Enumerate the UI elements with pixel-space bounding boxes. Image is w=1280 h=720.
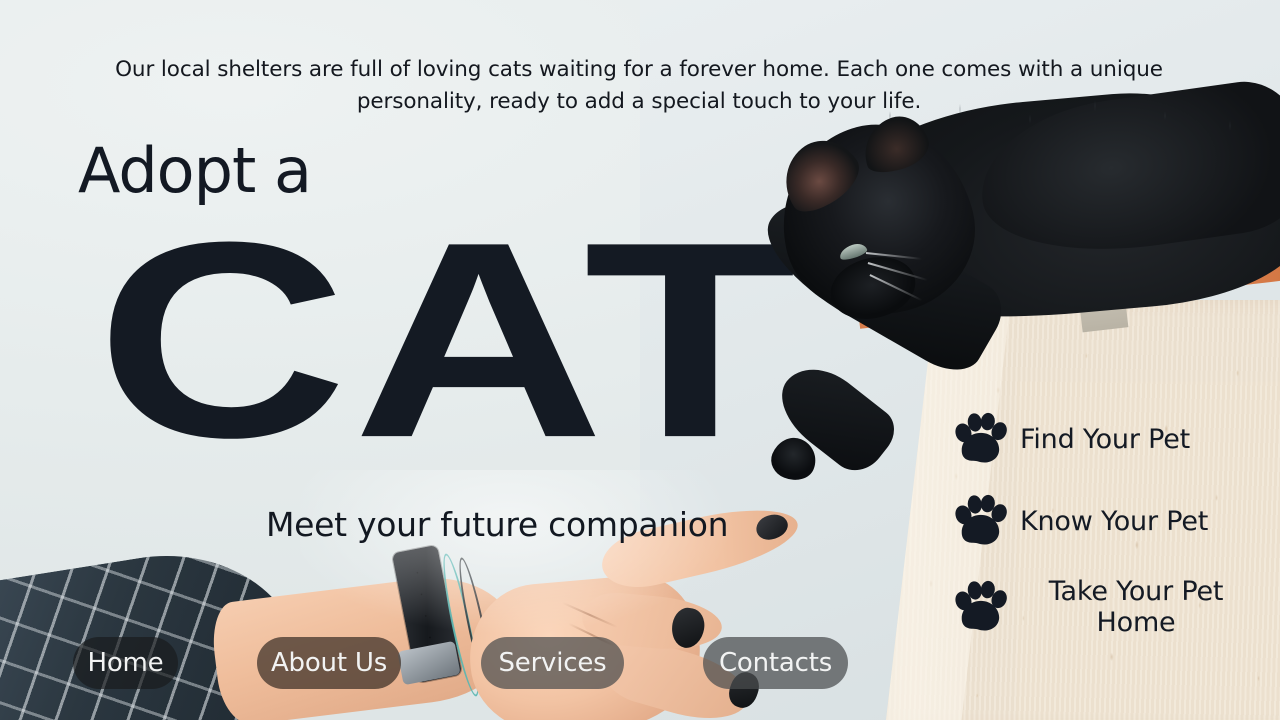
hero-tagline: Meet your future companion <box>266 505 728 544</box>
hero-slide: CAT Our local shelters are full of lovin… <box>0 0 1280 720</box>
nav-item-services[interactable]: Services <box>481 637 624 689</box>
paw-icon <box>952 580 1008 634</box>
nav-item-home[interactable]: Home <box>73 637 178 689</box>
feature-item[interactable]: Take Your Pet Home <box>952 576 1252 638</box>
hero-eyebrow: Adopt a <box>78 140 311 202</box>
intro-paragraph: Our local shelters are full of loving ca… <box>84 54 1194 118</box>
feature-list: Find Your Pet Know Your Pet <box>952 412 1252 666</box>
feature-item[interactable]: Know Your Pet <box>952 494 1252 548</box>
main-navigation: Home About Us Services Contacts <box>0 637 1280 691</box>
paw-icon <box>952 412 1008 466</box>
paw-icon <box>952 494 1008 548</box>
feature-label: Find Your Pet <box>1020 424 1190 455</box>
feature-label: Know Your Pet <box>1020 506 1208 537</box>
ui-layer: Our local shelters are full of loving ca… <box>0 0 1280 720</box>
nav-item-about-us[interactable]: About Us <box>257 637 401 689</box>
feature-item[interactable]: Find Your Pet <box>952 412 1252 466</box>
nav-item-contacts[interactable]: Contacts <box>703 637 848 689</box>
feature-label: Take Your Pet Home <box>1020 576 1252 638</box>
